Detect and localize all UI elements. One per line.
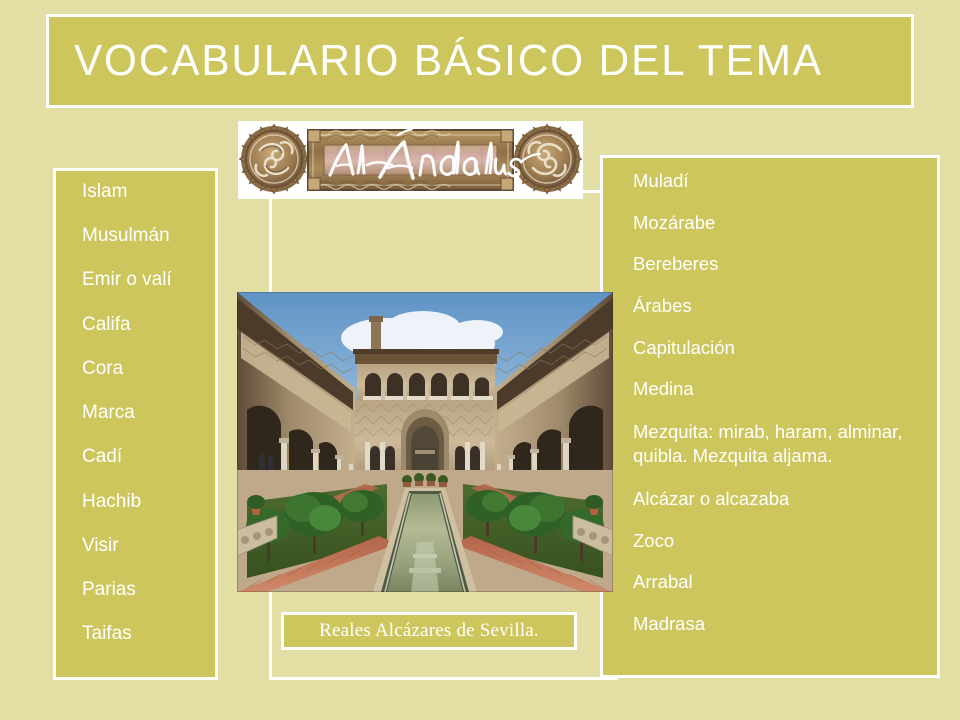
list-item: Medina: [633, 378, 923, 400]
list-item: Mozárabe: [633, 212, 923, 234]
list-item: Alcázar o alcazaba: [633, 488, 923, 510]
list-item: Mezquita: mirab, haram, alminar, quibla.…: [633, 420, 923, 468]
list-item: Árabes: [633, 295, 923, 317]
list-item: Zoco: [633, 530, 923, 552]
list-item: Taifas: [82, 623, 215, 645]
list-item: Cora: [82, 358, 215, 380]
list-item: Islam: [82, 181, 215, 203]
list-item: Muladí: [633, 170, 923, 192]
list-item: Cadí: [82, 446, 215, 468]
list-item: Califa: [82, 314, 215, 336]
al-andalus-banner-image: [238, 121, 583, 199]
page-title: VOCABULARIO BÁSICO DEL TEMA: [49, 39, 823, 83]
list-item: Emir o valí: [82, 269, 215, 291]
right-vocabulary-list: Muladí Mozárabe Bereberes Árabes Capitul…: [603, 158, 937, 635]
list-item: Bereberes: [633, 253, 923, 275]
left-vocabulary-list: Islam Musulmán Emir o valí Califa Cora M…: [56, 171, 215, 645]
slide: VOCABULARIO BÁSICO DEL TEMA Islam Musulm…: [0, 0, 960, 720]
reales-alcazares-photo: [237, 292, 613, 592]
list-item: Musulmán: [82, 225, 215, 247]
list-item: Arrabal: [633, 571, 923, 593]
list-item: Marca: [82, 402, 215, 424]
list-item: Capitulación: [633, 337, 923, 359]
slide-title-box: VOCABULARIO BÁSICO DEL TEMA: [46, 14, 914, 108]
photo-caption: Reales Alcázares de Sevilla.: [319, 620, 539, 642]
list-item: Hachib: [82, 491, 215, 513]
list-item: Visir: [82, 535, 215, 557]
left-vocabulary-panel: Islam Musulmán Emir o valí Califa Cora M…: [53, 168, 218, 680]
right-vocabulary-panel: Muladí Mozárabe Bereberes Árabes Capitul…: [600, 155, 940, 678]
list-item: Madrasa: [633, 613, 923, 635]
photo-caption-box: Reales Alcázares de Sevilla.: [281, 612, 577, 650]
list-item: Parias: [82, 579, 215, 601]
